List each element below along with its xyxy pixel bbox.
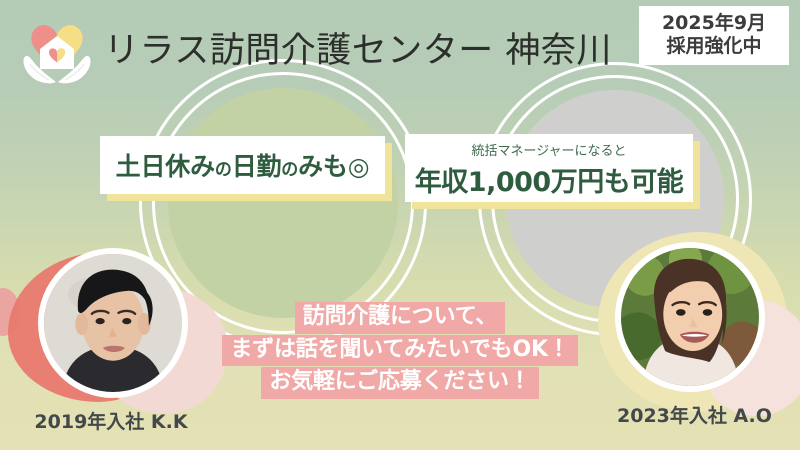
employee-caption-left: 2019年入社 K.K xyxy=(34,407,188,434)
recruitment-banner: リラス訪問介護センター 神奈川 2025年9月 採用強化中 土日休みの日勤のみも… xyxy=(0,0,800,450)
center-message-line-2: まずは話を聞いてみたいでもOK！ xyxy=(222,335,577,367)
callout-salary-subtitle: 統括マネージャーになると xyxy=(471,140,626,159)
hiring-badge: 2025年9月 採用強化中 xyxy=(639,6,789,65)
page-title: リラス訪問介護センター 神奈川 xyxy=(104,22,612,73)
heart-house-hands-logo-icon xyxy=(16,14,98,90)
employee-caption-right: 2023年入社 A.O xyxy=(617,401,772,428)
callout-shift-text: 土日休みの日勤のみも◎ xyxy=(116,147,370,183)
callout-salary-headline: 年収1,000万円も可能 xyxy=(415,160,683,199)
callout-salary-benefit: 統括マネージャーになると 年収1,000万円も可能 xyxy=(405,134,693,202)
callout-shift-particle-1: の xyxy=(215,160,232,180)
callout-shift-part-a: 土日休み xyxy=(116,152,215,181)
center-message-line-1: 訪問介護について、 xyxy=(295,302,505,334)
center-message-line-3: お気軽にご応募ください！ xyxy=(261,367,538,399)
hiring-badge-status: 採用強化中 xyxy=(643,35,785,58)
center-message: 訪問介護について、 まずは話を聞いてみたいでもOK！ お気軽にご応募ください！ xyxy=(0,302,800,400)
decorative-dome-left xyxy=(168,88,398,318)
decorative-arc-inner-left xyxy=(152,72,414,334)
callout-shift-part-b: 日勤 xyxy=(232,152,282,181)
callout-shift-part-c: みも◎ xyxy=(298,152,369,181)
hiring-badge-date: 2025年9月 xyxy=(643,12,785,35)
callout-shift-benefit: 土日休みの日勤のみも◎ xyxy=(100,136,385,194)
callout-shift-particle-2: の xyxy=(281,160,298,180)
